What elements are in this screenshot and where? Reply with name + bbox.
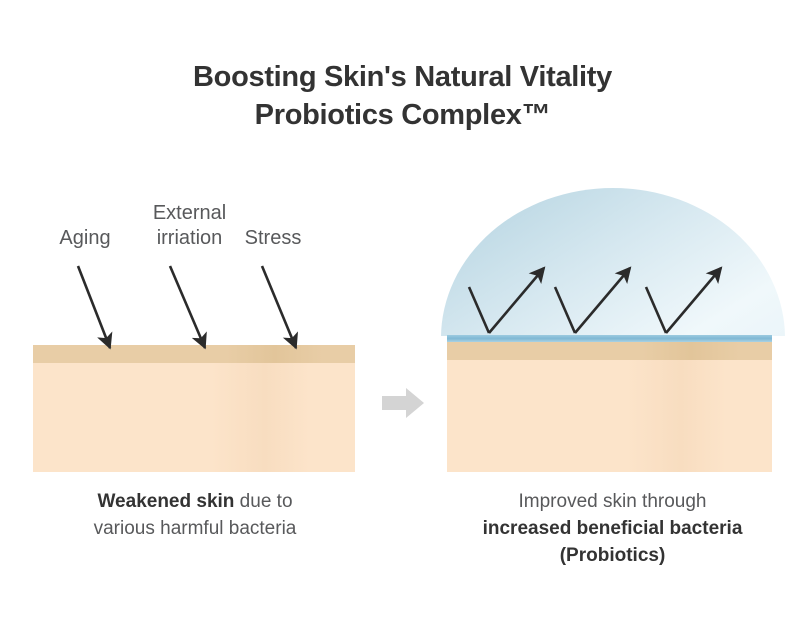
protective-barrier-layer [447,335,772,342]
caption-right-line-3: (Probiotics) [420,542,805,569]
improved-skin-diagram [422,180,805,500]
skin-block-improved [447,335,772,472]
damage-arrow-group [78,266,296,348]
skin-body-layer [33,345,355,472]
damage-arrow-aging [78,266,110,348]
caption-improved-skin: Improved skin through increased benefici… [420,488,805,569]
caption-right-line-2: increased beneficial bacteria [420,515,805,542]
title-line-2: Probiotics Complex™ [0,96,805,134]
skin-body-layer [447,342,772,472]
caption-weakened-skin: Weakened skin due to various harmful bac… [20,488,370,542]
damage-arrow-stress [262,266,296,348]
caption-right-line-1: Improved skin through [420,488,805,515]
caption-left-line-1: Weakened skin due to [20,488,370,515]
right-arrow-icon [380,386,426,420]
page-title: Boosting Skin's Natural Vitality Probiot… [0,58,805,134]
skin-block-weakened [33,345,355,472]
title-line-1: Boosting Skin's Natural Vitality [0,58,805,96]
skin-surface-layer [447,342,772,360]
caption-left-bold: Weakened skin [97,491,234,512]
transition-arrow [380,386,426,420]
weakened-skin-diagram [0,180,380,500]
caption-left-line-2: various harmful bacteria [20,515,370,542]
damage-arrow-external-irritation [170,266,205,348]
caption-left-rest: due to [234,491,292,512]
skin-surface-layer [33,345,355,363]
